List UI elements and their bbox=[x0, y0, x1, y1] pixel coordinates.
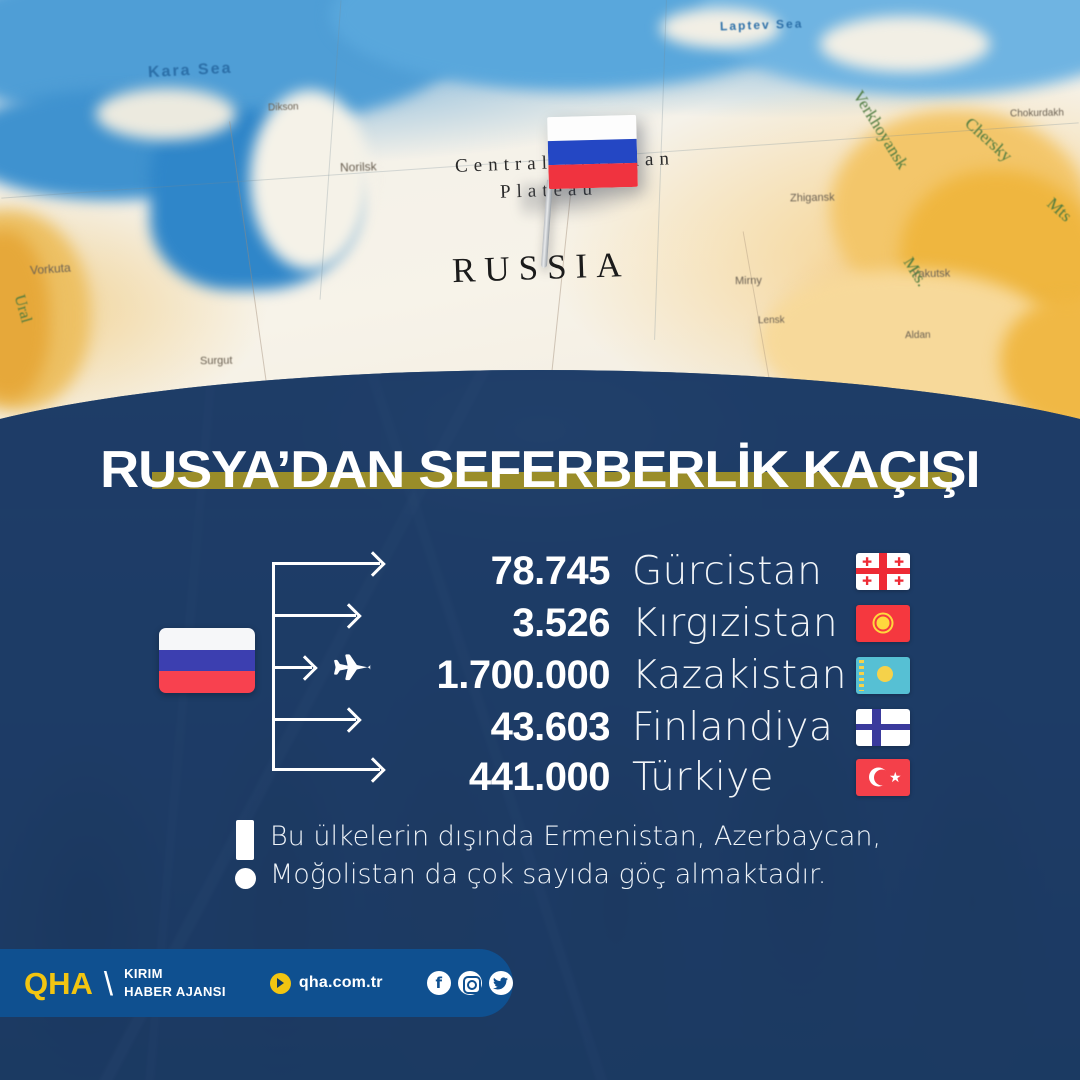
twitter-bird-glyph bbox=[493, 977, 508, 990]
arrow-to-finlandiya bbox=[272, 718, 356, 721]
country-name: Finlandiya bbox=[610, 705, 856, 750]
map-label: Norilsk bbox=[340, 159, 377, 174]
divider-slash: \ bbox=[104, 967, 113, 1000]
country-row: 78.745Gürcistan✚✚✚✚ bbox=[390, 545, 910, 597]
arrow-to-turkiye bbox=[272, 768, 380, 771]
migrant-count: 43.603 bbox=[390, 705, 610, 750]
country-name: Türkiye bbox=[610, 755, 856, 800]
footnote-line-2: Moğolistan da çok sayıda göç almaktadır. bbox=[270, 856, 881, 894]
turkey-flag: ★ bbox=[856, 759, 910, 796]
title-block: RUSYA’DAN SEFERBERLİK KAÇIŞI bbox=[0, 444, 1080, 496]
country-name: Kazakistan bbox=[610, 653, 856, 698]
instagram-icon[interactable] bbox=[458, 971, 482, 995]
arrow-to-kazakistan bbox=[272, 666, 312, 669]
map-label: Zhigansk bbox=[790, 192, 835, 205]
page-title: RUSYA’DAN SEFERBERLİK KAÇIŞI bbox=[100, 444, 979, 496]
social-links: f bbox=[427, 971, 513, 995]
country-row: 1.700.000Kazakistan bbox=[390, 649, 910, 701]
sea-shape bbox=[820, 16, 990, 72]
migrant-count: 1.700.000 bbox=[390, 653, 610, 698]
airplane-icon bbox=[326, 648, 376, 692]
brand-subtitle-line-1: KIRIM bbox=[124, 965, 226, 983]
country-name: Gürcistan bbox=[610, 549, 856, 594]
arrow-to-kirgizistan bbox=[272, 614, 356, 617]
globe-icon bbox=[270, 973, 291, 994]
kyrgyzstan-flag bbox=[856, 605, 910, 642]
map-label: Mirny bbox=[735, 275, 762, 287]
facebook-icon[interactable]: f bbox=[427, 971, 451, 995]
country-row: 441.000Türkiye★ bbox=[390, 751, 910, 803]
map-label: Chokurdakh bbox=[1010, 108, 1064, 120]
migrant-count: 3.526 bbox=[390, 601, 610, 646]
arrow-to-gurcistan bbox=[272, 562, 380, 565]
infographic-canvas: Kara SeaRUSSIACentral SiberianPlateauVor… bbox=[0, 0, 1080, 1080]
map-label: Aldan bbox=[905, 330, 931, 341]
qha-wordmark: QHA bbox=[24, 968, 93, 999]
exclamation-icon bbox=[234, 818, 256, 890]
map-label: Vorkuta bbox=[30, 261, 72, 278]
footnote-block: Bu ülkelerin dışında Ermenistan, Azerbay… bbox=[234, 818, 914, 895]
footer-bar: QHA \ KIRIM HABER AJANSI qha.com.tr f bbox=[0, 949, 513, 1017]
russia-map-photo: Kara SeaRUSSIACentral SiberianPlateauVor… bbox=[0, 0, 1080, 430]
sea-shape bbox=[96, 88, 236, 140]
kazakhstan-flag bbox=[856, 657, 910, 694]
brand-logo[interactable]: QHA \ KIRIM HABER AJANSI bbox=[24, 965, 226, 1000]
map-label: Dikson bbox=[268, 101, 299, 113]
migrant-count: 441.000 bbox=[390, 755, 610, 800]
twitter-icon[interactable] bbox=[489, 971, 513, 995]
website-url-text: qha.com.tr bbox=[299, 974, 383, 992]
migrant-count: 78.745 bbox=[390, 549, 610, 594]
russia-pin-flag bbox=[547, 115, 638, 189]
brand-subtitle-line-2: HABER AJANSI bbox=[124, 983, 226, 1001]
footnote-text: Bu ülkelerin dışında Ermenistan, Azerbay… bbox=[270, 818, 881, 895]
map-label: Laptev Sea bbox=[720, 17, 804, 34]
country-name: Kırgızistan bbox=[610, 601, 856, 646]
footnote-line-1: Bu ülkelerin dışında Ermenistan, Azerbay… bbox=[270, 818, 881, 856]
map-label: Surgut bbox=[200, 355, 233, 368]
russia-flag-icon bbox=[159, 628, 255, 693]
country-row: 3.526Kırgızistan bbox=[390, 597, 910, 649]
map-label: Lensk bbox=[758, 315, 785, 326]
finland-flag bbox=[856, 709, 910, 746]
georgia-flag: ✚✚✚✚ bbox=[856, 553, 910, 590]
country-row: 43.603Finlandiya bbox=[390, 701, 910, 753]
website-link[interactable]: qha.com.tr bbox=[270, 973, 383, 994]
brand-subtitle: KIRIM HABER AJANSI bbox=[124, 965, 226, 1000]
